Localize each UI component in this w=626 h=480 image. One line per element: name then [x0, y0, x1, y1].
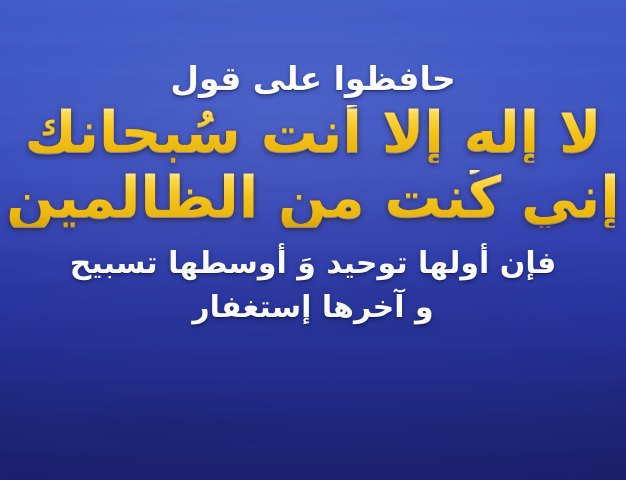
poster-content: حافظوا على قول لا إله إلا أنت سُبحانك إن…	[0, 0, 626, 480]
explanation-line-2: و آخرها إستغفار	[0, 293, 626, 323]
dhikr-line-2: إني كُنت من الظالمين	[0, 170, 626, 227]
explanation-line-1: فإن أولها توحيد وَ أوسطها تسبيح	[0, 249, 626, 279]
dhikr-poster: حافظوا على قول لا إله إلا أنت سُبحانك إن…	[0, 0, 626, 480]
intro-text: حافظوا على قول	[0, 62, 626, 95]
dhikr-line-1: لا إله إلا أنت سُبحانك	[0, 105, 626, 162]
